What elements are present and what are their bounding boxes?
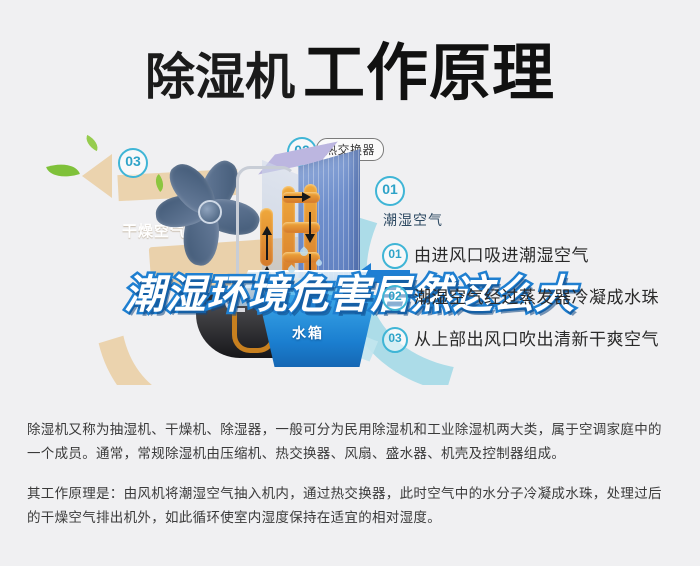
diagram-badge-03: 03 [118, 148, 148, 178]
paragraph-principle: 其工作原理是：由风机将潮湿空气抽入机内，通过热交换器，此时空气中的水分子冷凝成水… [27, 482, 675, 530]
flow-arrow-up-icon [262, 226, 272, 235]
water-tank-label: 水箱 [292, 323, 324, 343]
flow-arrow-stem-icon [309, 212, 311, 234]
title-part-two: 工作原理 [303, 39, 555, 108]
step-item: 01由进风口吸进潮湿空气 [382, 243, 682, 285]
step-label: 由进风口吸进潮湿空气 [414, 246, 589, 265]
step-label: 从上部出风口吹出清新干爽空气 [414, 330, 659, 349]
poster-root: 除湿机工作原理 干燥空气 潮湿空气 03 02 01 热交换器 [0, 0, 700, 566]
flow-arrow-stem-icon [266, 234, 268, 260]
flow-arrow-right-icon [302, 192, 311, 202]
step-number-badge: 02 [382, 285, 408, 311]
body-copy: 除湿机又称为抽湿机、干燥机、除湿器，一般可分为民用除湿机和工业除湿机两大类，属于… [27, 418, 675, 530]
dry-air-arrow-head-icon [82, 154, 112, 198]
flow-arrow-down-icon [305, 234, 315, 243]
fan-hub-icon [198, 200, 222, 224]
leaf-icon [83, 135, 102, 151]
step-number-badge: 01 [382, 243, 408, 269]
step-item: 02潮湿空气经过蒸发器冷凝成水珠 [382, 285, 682, 327]
step-list: 01由进风口吸进潮湿空气 02潮湿空气经过蒸发器冷凝成水珠 03从上部出风口吹出… [382, 243, 682, 369]
step-label: 潮湿空气经过蒸发器冷凝成水珠 [414, 288, 659, 307]
paragraph-definition: 除湿机又称为抽湿机、干燥机、除湿器，一般可分为民用除湿机和工业除湿机两大类，属于… [27, 418, 675, 466]
flow-arrow-stem-icon [284, 196, 302, 198]
step-item: 03从上部出风口吹出清新干爽空气 [382, 327, 682, 369]
coil-segment-icon [282, 222, 320, 233]
page-title: 除湿机工作原理 [0, 22, 700, 112]
title-part-one: 除湿机 [145, 49, 295, 105]
leaf-icon [46, 158, 80, 183]
step-number-badge: 03 [382, 327, 408, 353]
